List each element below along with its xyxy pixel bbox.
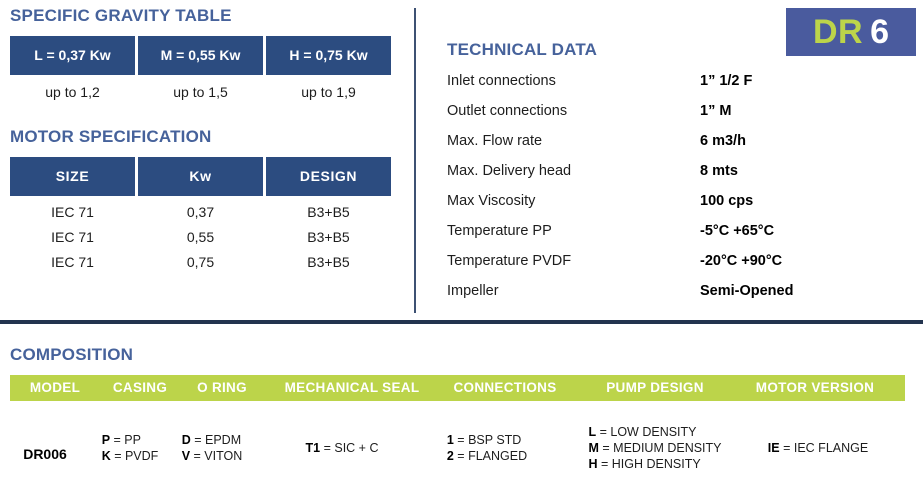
composition-column-header: PUMP DESIGN (606, 375, 704, 401)
motor-cell-kw: 0,75 (138, 250, 263, 275)
table-row: Outlet connections 1” M (447, 103, 847, 133)
model-badge: DR 6 (786, 8, 916, 56)
table-row: Temperature PP -5°C +65°C (447, 223, 847, 253)
tech-label: Max. Delivery head (447, 163, 700, 179)
tech-value: 1” M (700, 103, 731, 119)
motor-cell-design: B3+B5 (266, 200, 391, 225)
motor-cell-design: B3+B5 (266, 225, 391, 250)
motor-cell-size: IEC 71 (10, 250, 135, 275)
motor-cell-kw: 0,55 (138, 225, 263, 250)
table-row: Inlet connections 1” 1/2 F (447, 73, 847, 103)
tech-label: Inlet connections (447, 73, 700, 89)
desc: FLANGED (468, 449, 527, 463)
table-row: IEC 71 0,75 B3+B5 (10, 250, 391, 275)
table-row: Max. Flow rate 6 m3/h (447, 133, 847, 163)
code: T1 (306, 441, 321, 455)
motor-cell-kw: 0,37 (138, 200, 263, 225)
desc: VITON (204, 449, 242, 463)
desc: BSP STD (468, 433, 521, 447)
desc: IEC FLANGE (794, 441, 868, 455)
table-row: Temperature PVDF -20°C +90°C (447, 253, 847, 283)
composition-column-header: MODEL (30, 375, 80, 401)
motor-column-header: Kw (138, 157, 263, 196)
composition-column-header: CONNECTIONS (453, 375, 556, 401)
code: H (588, 457, 597, 471)
code: P (102, 433, 110, 447)
table-row: Impeller Semi-Opened (447, 283, 847, 313)
composition-column-header: O RING (197, 375, 247, 401)
composition-pump-design: L = LOW DENSITY M = MEDIUM DENSITY H = H… (588, 424, 721, 472)
desc: EPDM (205, 433, 241, 447)
desc: SIC + C (334, 441, 378, 455)
composition-connections: 1 = BSP STD 2 = FLANGED (447, 432, 527, 464)
desc: LOW DENSITY (610, 425, 696, 439)
table-row: IEC 71 0,37 B3+B5 (10, 200, 391, 225)
table-row: IEC 71 0,55 B3+B5 (10, 225, 391, 250)
composition-column-bar: MODEL CASING O RING MECHANICAL SEAL CONN… (10, 375, 905, 401)
code: K (102, 449, 111, 463)
composition-body: DR006 P = PP K = PVDF D = EPDM V = VITON… (0, 405, 923, 495)
motor-specification-heading: MOTOR SPECIFICATION (10, 127, 395, 147)
code: 1 (447, 433, 454, 447)
motor-column-header: SIZE (10, 157, 135, 196)
motor-cell-design: B3+B5 (266, 250, 391, 275)
desc: HIGH DENSITY (612, 457, 701, 471)
gravity-sub-label: up to 1,2 (10, 84, 135, 100)
tech-value: 100 cps (700, 193, 753, 209)
table-row: Max Viscosity 100 cps (447, 193, 847, 223)
horizontal-divider (0, 320, 923, 324)
gravity-box: H = 0,75 Kw (266, 36, 391, 75)
tech-label: Max. Flow rate (447, 133, 700, 149)
tech-label: Outlet connections (447, 103, 700, 119)
composition-motor-version: IE = IEC FLANGE (768, 440, 868, 456)
desc: PP (124, 433, 141, 447)
composition-column-header: MECHANICAL SEAL (285, 375, 420, 401)
gravity-box: M = 0,55 Kw (138, 36, 263, 75)
composition-model: DR006 (23, 446, 67, 462)
gravity-sub-label: up to 1,9 (266, 84, 391, 100)
composition-o-ring: D = EPDM V = VITON (182, 432, 243, 464)
spec-sheet: SPECIFIC GRAVITY TABLE L = 0,37 Kw M = 0… (0, 0, 923, 500)
composition-heading: COMPOSITION (10, 345, 133, 365)
composition-mechanical-seal: T1 = SIC + C (306, 440, 379, 456)
gravity-box: L = 0,37 Kw (10, 36, 135, 75)
code: D (182, 433, 191, 447)
code: M (588, 441, 598, 455)
badge-prefix: DR (813, 15, 863, 49)
tech-value: 1” 1/2 F (700, 73, 752, 89)
tech-value: -5°C +65°C (700, 223, 774, 239)
badge-number: 6 (870, 15, 889, 49)
specific-gravity-boxes: L = 0,37 Kw M = 0,55 Kw H = 0,75 Kw (10, 36, 391, 75)
tech-label: Max Viscosity (447, 193, 700, 209)
motor-table-body: IEC 71 0,37 B3+B5 IEC 71 0,55 B3+B5 IEC … (10, 200, 391, 275)
specific-gravity-subrow: up to 1,2 up to 1,5 up to 1,9 (10, 84, 391, 100)
left-column: SPECIFIC GRAVITY TABLE L = 0,37 Kw M = 0… (10, 6, 395, 275)
technical-data-section: TECHNICAL DATA Inlet connections 1” 1/2 … (447, 40, 847, 313)
tech-label: Temperature PVDF (447, 253, 700, 269)
code: IE (768, 441, 780, 455)
composition-casing: P = PP K = PVDF (102, 432, 159, 464)
motor-table-header: SIZE Kw DESIGN (10, 157, 391, 196)
tech-label: Impeller (447, 283, 700, 299)
code: V (182, 449, 190, 463)
tech-label: Temperature PP (447, 223, 700, 239)
code: L (588, 425, 596, 439)
desc: PVDF (125, 449, 158, 463)
tech-value: -20°C +90°C (700, 253, 782, 269)
motor-cell-size: IEC 71 (10, 200, 135, 225)
motor-cell-size: IEC 71 (10, 225, 135, 250)
gravity-sub-label: up to 1,5 (138, 84, 263, 100)
desc: MEDIUM DENSITY (613, 441, 721, 455)
table-row: Max. Delivery head 8 mts (447, 163, 847, 193)
vertical-divider (414, 8, 416, 313)
composition-column-header: CASING (113, 375, 167, 401)
tech-value: 8 mts (700, 163, 738, 179)
tech-value: Semi-Opened (700, 283, 793, 299)
code: 2 (447, 449, 454, 463)
motor-column-header: DESIGN (266, 157, 391, 196)
composition-column-header: MOTOR VERSION (756, 375, 874, 401)
specific-gravity-heading: SPECIFIC GRAVITY TABLE (10, 6, 395, 26)
tech-value: 6 m3/h (700, 133, 746, 149)
